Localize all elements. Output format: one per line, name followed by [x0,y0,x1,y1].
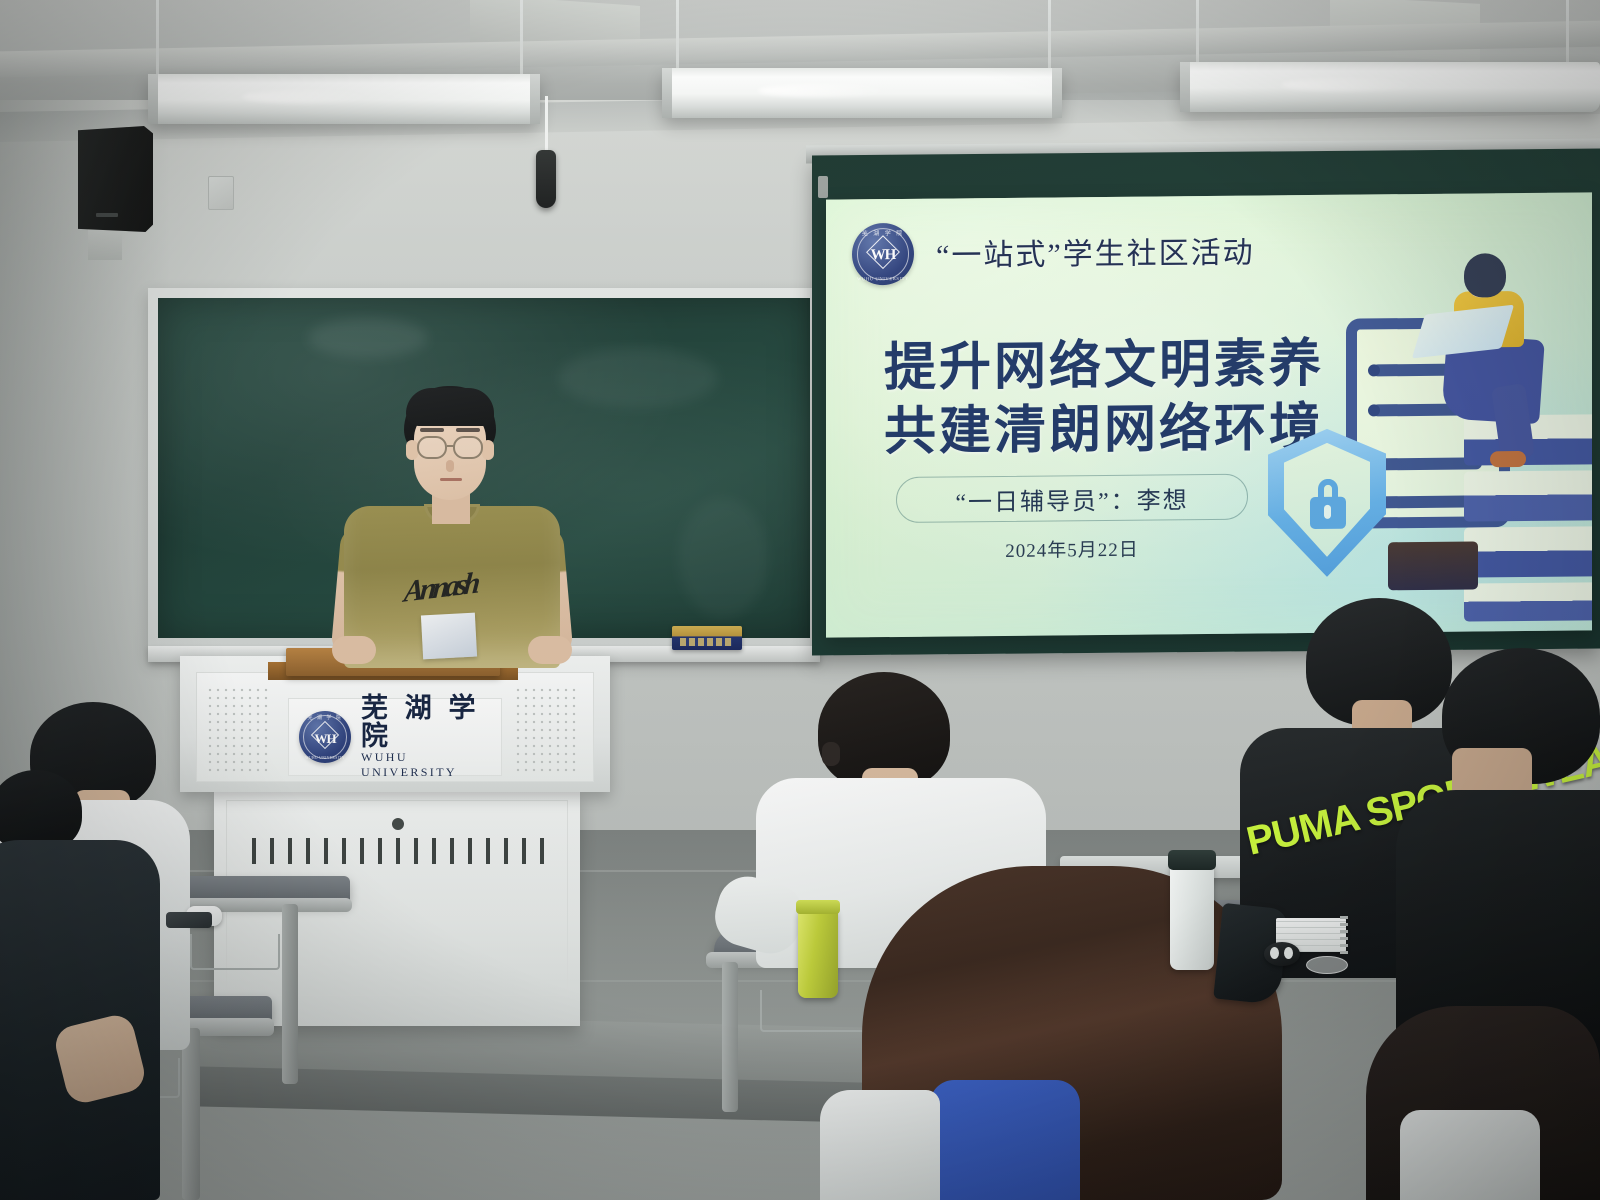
presenter-papers [421,613,477,660]
person-hair [1464,253,1506,297]
podium-seal-arc-bottom: WUHU UNIVERSITY [299,756,351,760]
cyber-security-illustration [1268,244,1586,627]
phone-on-desk[interactable] [166,912,212,928]
slide-title-line2: 共建清朗网络环境 [884,385,1324,464]
slide-presenter-pill: “一日辅导员”：李想 [896,474,1248,523]
speaker-bracket [88,228,122,260]
podium-plaque: WH 芜 湖 学 院 WUHU UNIVERSITY 芜 湖 学 院 WUHU … [288,698,502,776]
slide-presenter-label: “一日辅导员”：李想 [955,480,1188,517]
student-long-hair-shirt [820,1090,940,1200]
podium-seal-monogram: WH [299,731,351,747]
classroom-photo: WH 芜 湖 学 院 WUHU UNIVERSITY “一站式”学生社区活动 提… [0,0,1600,1200]
ceiling-light-1 [148,74,540,124]
screen-hook [818,176,828,198]
green-water-bottle[interactable] [798,908,838,998]
slide-date: 2024年5月22日 [826,533,1318,565]
speaker-logo [96,213,118,217]
light-rod [1048,0,1051,68]
green-bottle-cap[interactable] [796,900,840,914]
server-rack [1464,582,1592,621]
server-rack [1464,526,1592,577]
hanging-microphone-icon [536,150,556,208]
presenter-hand-right [528,636,572,664]
presenter-fringe [406,388,494,426]
light-rod [1566,0,1569,62]
student-long-hair-backpack [930,1080,1080,1200]
podium-seal-icon: WH 芜 湖 学 院 WUHU UNIVERSITY [299,711,351,763]
student-center-earphone [822,742,840,766]
podium-plaque-en: WUHU UNIVERSITY [361,750,501,780]
glasses-lens-left [417,436,447,459]
person-shoe [1490,451,1526,467]
presenter-mouth [440,478,462,481]
glasses-bridge [447,445,455,447]
frosted-bottle-cap[interactable] [1168,850,1216,870]
lock-keyhole [1324,505,1331,519]
ceiling-light-2 [662,68,1062,118]
server-rack [1464,470,1592,521]
chalk-box[interactable] [672,626,742,650]
podium-knob[interactable] [392,818,404,830]
glasses-lens-right [453,436,483,459]
podium-plaque-cn: 芜 湖 学 院 [361,694,501,751]
light-switch[interactable] [208,176,234,210]
student-right-lower-shirt [1400,1110,1540,1200]
clear-container[interactable] [1306,956,1348,974]
frosted-water-bottle[interactable] [1170,862,1214,970]
light-rod [156,0,159,78]
desk-leg [182,1028,200,1200]
microphone-cable [545,96,548,156]
notebook-spiral [1340,916,1348,954]
university-seal-icon: WH 芜 湖 学 院 WUHU UNIVERSITY [852,223,914,286]
presenter-nose [446,460,454,472]
light-rod [1196,0,1199,64]
light-rod [676,0,679,70]
light-rod [520,0,523,74]
server-base [1388,541,1478,590]
earbud-left [1270,947,1279,959]
podium-vents [252,838,544,864]
desk-leg [722,962,738,1112]
seal-arc-top: 芜 湖 学 院 [852,228,914,238]
projected-slide: WH 芜 湖 学 院 WUHU UNIVERSITY “一站式”学生社区活动 提… [826,192,1592,637]
presenter-ear-right [482,440,494,460]
presenter-brow-right [456,428,480,432]
earbud-right [1284,947,1293,959]
podium-seal-arc-top: 芜 湖 学 院 [299,714,351,721]
podium-speaker-grill-left [206,686,272,772]
desk-shelf [190,934,280,970]
student-front-left-dark-body [0,840,160,1200]
podium-speaker-grill-right [514,686,580,772]
ceiling-light-3 [1180,62,1600,112]
seal-monogram: WH [852,247,914,265]
slide-kicker: “一站式”学生社区活动 [936,228,1255,275]
desk-leg [282,904,298,1084]
presenter-hand-left [332,636,376,664]
presenter-brow-left [420,428,444,432]
seal-arc-bottom: WUHU UNIVERSITY [852,276,914,282]
